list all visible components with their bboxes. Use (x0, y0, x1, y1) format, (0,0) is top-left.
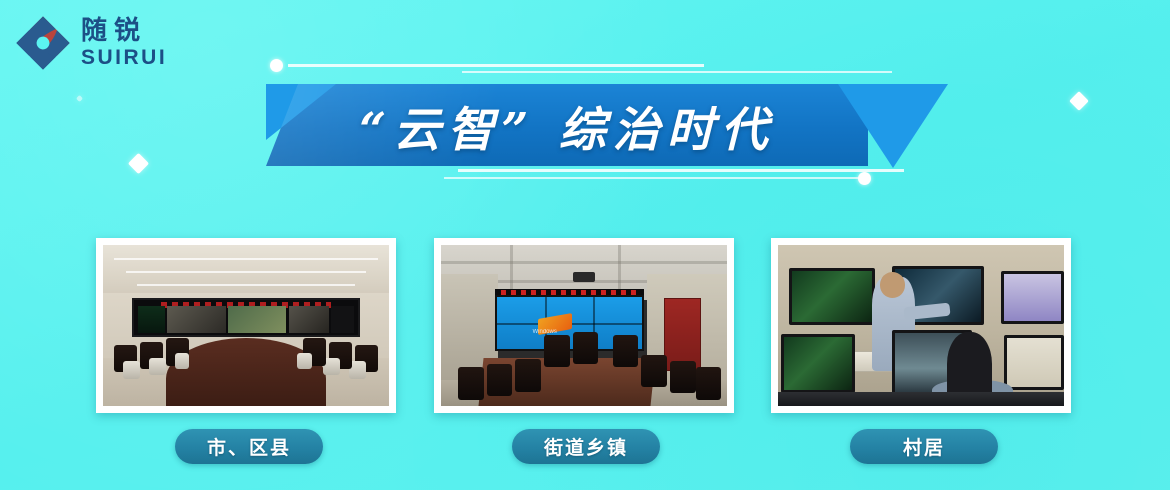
photo-card-row: Windows (0, 238, 1170, 418)
card-label-city[interactable]: 市、区县 (175, 429, 323, 464)
banner-top-line-1 (288, 64, 704, 67)
brand-name-en: SUIRUI (81, 47, 167, 68)
card-label-village[interactable]: 村居 (850, 429, 998, 464)
page-title: “云智” 综治时代 (266, 84, 868, 166)
banner-bottom-line-1 (458, 169, 904, 172)
brand-name-cn: 随锐 (81, 18, 167, 44)
village-monitoring-station-photo (778, 245, 1064, 406)
banner-top-line-2 (462, 71, 892, 73)
title-banner-group: “云智” 综治时代 (262, 56, 952, 186)
photo-card-village[interactable] (771, 238, 1071, 413)
card-label-township[interactable]: 街道乡镇 (512, 429, 660, 464)
banner-bottom-dot (858, 172, 871, 185)
township-meeting-room-photo: Windows (441, 245, 727, 406)
brand-logo[interactable]: 随锐 SUIRUI (14, 14, 167, 72)
photo-card-city[interactable] (96, 238, 396, 413)
pinwheel-diamond-logo-icon (14, 14, 72, 72)
city-command-center-photo (103, 245, 389, 406)
banner-bottom-line-2 (444, 177, 864, 179)
banner-top-dot (270, 59, 283, 72)
photo-card-township[interactable]: Windows (434, 238, 734, 413)
